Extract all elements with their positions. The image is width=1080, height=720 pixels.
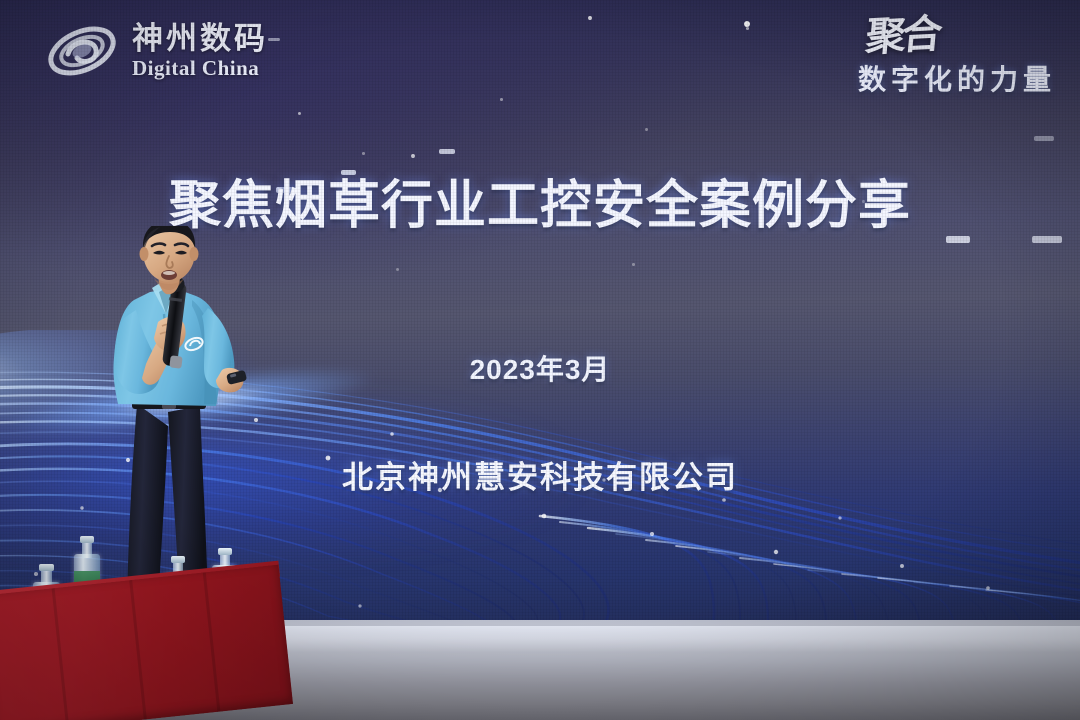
digital-china-swirl-icon [44,20,120,82]
bottle-cap [171,556,185,563]
particle-dot [746,27,749,30]
slogan-subtitle: 数字化的力量 [858,58,1056,98]
slide-title: 聚焦烟草行业工控安全案例分享 [0,180,1080,232]
particle-dash [1032,236,1062,243]
particle-dot [500,98,503,101]
particle-dot [588,16,592,20]
particle-dot [411,154,415,158]
slogan-main-calligraphy: 聚合 [864,14,940,58]
skirt-fold [52,588,70,720]
brand-text-block: 神州数码 Digital China [132,23,268,79]
screenshot-root: 聚焦烟草行业工控安全案例分享 2023年3月 北京神州慧安科技有限公司 神州数码… [0,0,1080,720]
skirt-fold [129,580,147,720]
bottle-cap [80,536,95,543]
brand-name-en: Digital China [132,58,268,79]
bottle-cap [218,548,232,555]
particle-dash [341,170,356,175]
skirt-fold [203,572,221,712]
particle-dash [268,38,280,41]
bottle-neck [82,541,92,557]
particle-dot [396,268,399,271]
brand-name-cn: 神州数码 [132,23,268,54]
particle-dot [298,112,301,115]
brand-logo-digital-china: 神州数码 Digital China [44,20,268,82]
particle-dot [645,128,648,131]
particle-dot [632,263,635,266]
particle-dash [439,149,455,154]
bottle-cap [39,564,54,571]
particle-dash [946,236,970,243]
particle-dot [744,21,750,27]
particle-dash [1034,136,1054,141]
event-slogan-block: 聚合 数字化的力量 [858,16,1056,98]
particle-dot [362,152,365,155]
